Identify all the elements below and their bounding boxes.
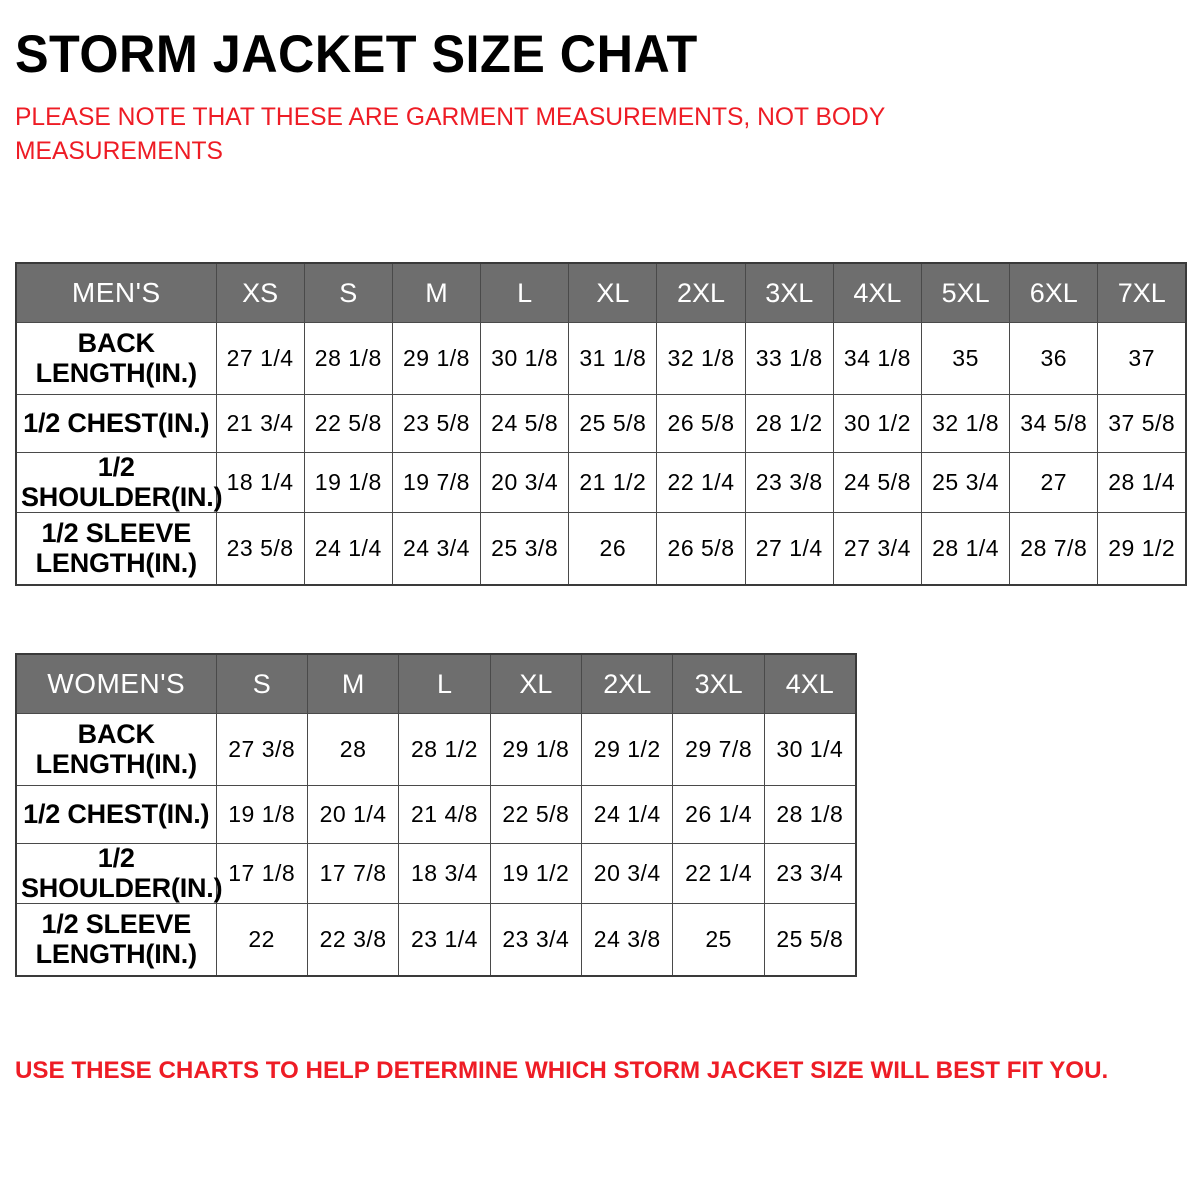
womens-size-col-3xl: 3XL <box>673 654 764 714</box>
mens-size-col-7xl: 7XL <box>1098 263 1186 323</box>
table-cell: 29 7/8 <box>673 714 764 786</box>
mens-size-col-4xl: 4XL <box>833 263 921 323</box>
mens-table-body: BACK LENGTH(IN.) 27 1/4 28 1/8 29 1/8 30… <box>16 323 1186 585</box>
table-cell: 18 3/4 <box>399 844 490 904</box>
womens-size-col-xl: XL <box>490 654 581 714</box>
table-cell: 27 <box>1010 453 1098 513</box>
table-cell: 18 1/4 <box>216 453 304 513</box>
table-cell: 21 4/8 <box>399 786 490 844</box>
table-cell: 35 <box>922 323 1010 395</box>
table-cell: 22 <box>216 904 307 976</box>
table-cell: 23 1/4 <box>399 904 490 976</box>
table-cell: 19 1/8 <box>216 786 307 844</box>
mens-header-row: MEN'S XS S M L XL 2XL 3XL 4XL 5XL 6XL 7X… <box>16 263 1186 323</box>
size-chart-page: STORM JACKET SIZE CHAT PLEASE NOTE THAT … <box>0 0 1200 1200</box>
table-row: 1/2 SLEEVE LENGTH(IN.) 23 5/8 24 1/4 24 … <box>16 513 1186 585</box>
table-cell: 32 1/8 <box>657 323 745 395</box>
table-cell: 22 1/4 <box>673 844 764 904</box>
table-cell: 27 1/4 <box>216 323 304 395</box>
table-cell: 29 1/2 <box>1098 513 1186 585</box>
table-cell: 23 3/4 <box>764 844 855 904</box>
table-cell: 20 3/4 <box>582 844 673 904</box>
table-cell: 25 <box>673 904 764 976</box>
table-cell: 19 1/8 <box>304 453 392 513</box>
mens-size-table: MEN'S XS S M L XL 2XL 3XL 4XL 5XL 6XL 7X… <box>15 262 1187 586</box>
table-cell: 25 3/4 <box>922 453 1010 513</box>
table-cell: 20 1/4 <box>307 786 398 844</box>
mens-size-col-xs: XS <box>216 263 304 323</box>
table-cell: 29 1/2 <box>582 714 673 786</box>
table-cell: 24 1/4 <box>304 513 392 585</box>
table-cell: 27 1/4 <box>745 513 833 585</box>
table-row: 1/2 CHEST(IN.) 21 3/4 22 5/8 23 5/8 24 5… <box>16 395 1186 453</box>
page-title: STORM JACKET SIZE CHAT <box>15 0 1127 81</box>
garment-measurement-note: PLEASE NOTE THAT THESE ARE GARMENT MEASU… <box>15 81 941 168</box>
womens-size-col-4xl: 4XL <box>764 654 855 714</box>
table-cell: 30 1/4 <box>764 714 855 786</box>
row-label-half-sleeve-length: 1/2 SLEEVE LENGTH(IN.) <box>16 513 216 585</box>
table-cell: 21 3/4 <box>216 395 304 453</box>
mens-size-col-3xl: 3XL <box>745 263 833 323</box>
table-cell: 28 1/2 <box>399 714 490 786</box>
table-cell: 23 3/4 <box>490 904 581 976</box>
womens-header-row: WOMEN'S S M L XL 2XL 3XL 4XL <box>16 654 856 714</box>
table-row: 1/2 SLEEVE LENGTH(IN.) 22 22 3/8 23 1/4 … <box>16 904 856 976</box>
womens-size-col-s: S <box>216 654 307 714</box>
table-cell: 17 1/8 <box>216 844 307 904</box>
womens-table-head: WOMEN'S S M L XL 2XL 3XL 4XL <box>16 654 856 714</box>
table-row: 1/2 SHOULDER(IN.) 18 1/4 19 1/8 19 7/8 2… <box>16 453 1186 513</box>
mens-table-head: MEN'S XS S M L XL 2XL 3XL 4XL 5XL 6XL 7X… <box>16 263 1186 323</box>
table-cell: 34 5/8 <box>1010 395 1098 453</box>
table-cell: 27 3/8 <box>216 714 307 786</box>
table-cell: 36 <box>1010 323 1098 395</box>
table-cell: 24 5/8 <box>481 395 569 453</box>
table-cell: 26 <box>569 513 657 585</box>
table-cell: 26 1/4 <box>673 786 764 844</box>
table-cell: 19 1/2 <box>490 844 581 904</box>
table-cell: 26 5/8 <box>657 395 745 453</box>
table-cell: 28 1/4 <box>922 513 1010 585</box>
womens-size-col-l: L <box>399 654 490 714</box>
table-cell: 23 5/8 <box>392 395 480 453</box>
mens-size-col-l: L <box>481 263 569 323</box>
table-cell: 28 <box>307 714 398 786</box>
row-label-half-chest: 1/2 CHEST(IN.) <box>16 786 216 844</box>
table-cell: 37 5/8 <box>1098 395 1186 453</box>
table-cell: 29 1/8 <box>490 714 581 786</box>
table-cell: 28 1/8 <box>764 786 855 844</box>
table-cell: 19 7/8 <box>392 453 480 513</box>
table-cell: 37 <box>1098 323 1186 395</box>
mens-corner-label: MEN'S <box>16 263 216 323</box>
table-cell: 25 5/8 <box>764 904 855 976</box>
row-label-half-shoulder: 1/2 SHOULDER(IN.) <box>16 453 216 513</box>
usage-note: USE THESE CHARTS TO HELP DETERMINE WHICH… <box>15 1056 1108 1085</box>
table-cell: 32 1/8 <box>922 395 1010 453</box>
mens-size-col-5xl: 5XL <box>922 263 1010 323</box>
womens-table-body: BACK LENGTH(IN.) 27 3/8 28 28 1/2 29 1/8… <box>16 714 856 976</box>
mens-size-col-xl: XL <box>569 263 657 323</box>
table-cell: 24 3/8 <box>582 904 673 976</box>
womens-size-col-2xl: 2XL <box>582 654 673 714</box>
table-cell: 28 1/2 <box>745 395 833 453</box>
table-row: BACK LENGTH(IN.) 27 3/8 28 28 1/2 29 1/8… <box>16 714 856 786</box>
table-cell: 24 5/8 <box>833 453 921 513</box>
table-cell: 25 5/8 <box>569 395 657 453</box>
table-cell: 26 5/8 <box>657 513 745 585</box>
table-cell: 29 1/8 <box>392 323 480 395</box>
row-label-half-sleeve-length: 1/2 SLEEVE LENGTH(IN.) <box>16 904 216 976</box>
table-cell: 28 1/8 <box>304 323 392 395</box>
table-row: 1/2 CHEST(IN.) 19 1/8 20 1/4 21 4/8 22 5… <box>16 786 856 844</box>
row-label-back-length: BACK LENGTH(IN.) <box>16 714 216 786</box>
table-cell: 22 5/8 <box>304 395 392 453</box>
table-cell: 24 1/4 <box>582 786 673 844</box>
table-cell: 28 1/4 <box>1098 453 1186 513</box>
table-cell: 27 3/4 <box>833 513 921 585</box>
table-cell: 25 3/8 <box>481 513 569 585</box>
table-row: 1/2 SHOULDER(IN.) 17 1/8 17 7/8 18 3/4 1… <box>16 844 856 904</box>
row-label-half-shoulder: 1/2 SHOULDER(IN.) <box>16 844 216 904</box>
mens-size-col-s: S <box>304 263 392 323</box>
womens-size-col-m: M <box>307 654 398 714</box>
table-cell: 30 1/2 <box>833 395 921 453</box>
table-cell: 22 1/4 <box>657 453 745 513</box>
table-cell: 28 7/8 <box>1010 513 1098 585</box>
row-label-back-length: BACK LENGTH(IN.) <box>16 323 216 395</box>
womens-corner-label: WOMEN'S <box>16 654 216 714</box>
table-cell: 22 3/8 <box>307 904 398 976</box>
table-cell: 30 1/8 <box>481 323 569 395</box>
table-cell: 21 1/2 <box>569 453 657 513</box>
mens-size-col-6xl: 6XL <box>1010 263 1098 323</box>
table-cell: 23 3/8 <box>745 453 833 513</box>
table-cell: 24 3/4 <box>392 513 480 585</box>
table-cell: 33 1/8 <box>745 323 833 395</box>
mens-size-col-m: M <box>392 263 480 323</box>
table-cell: 20 3/4 <box>481 453 569 513</box>
table-cell: 23 5/8 <box>216 513 304 585</box>
table-cell: 22 5/8 <box>490 786 581 844</box>
table-cell: 17 7/8 <box>307 844 398 904</box>
table-cell: 31 1/8 <box>569 323 657 395</box>
womens-size-table: WOMEN'S S M L XL 2XL 3XL 4XL BACK LENGTH… <box>15 653 857 977</box>
mens-size-col-2xl: 2XL <box>657 263 745 323</box>
table-row: BACK LENGTH(IN.) 27 1/4 28 1/8 29 1/8 30… <box>16 323 1186 395</box>
table-cell: 34 1/8 <box>833 323 921 395</box>
row-label-half-chest: 1/2 CHEST(IN.) <box>16 395 216 453</box>
